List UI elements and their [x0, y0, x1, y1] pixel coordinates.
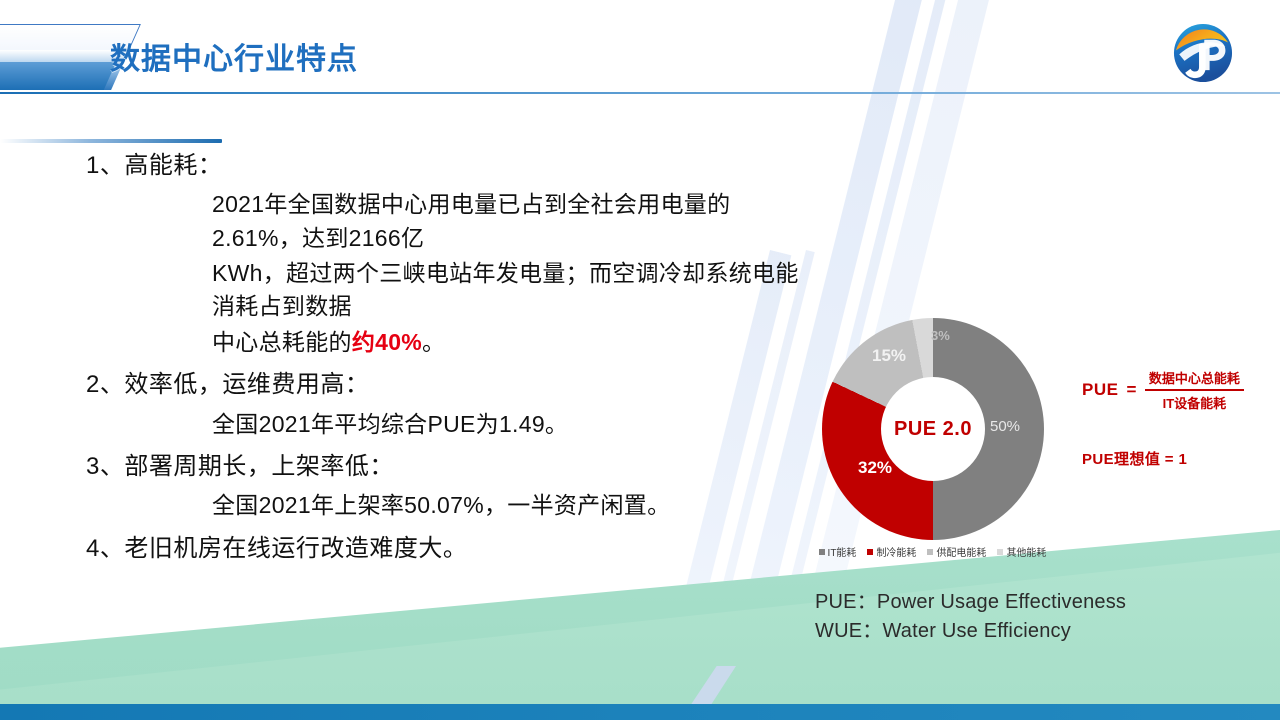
company-logo-icon: [1170, 20, 1236, 86]
formula-ideal-value: PUE理想值 = 1: [1082, 448, 1244, 469]
header-divider: [0, 92, 1280, 94]
legend-swatch-icon: [867, 549, 873, 555]
formula-lhs: PUE: [1082, 380, 1118, 400]
caption-pue: PUE：Power Usage Effectiveness: [815, 588, 1126, 617]
acronym-captions: PUE：Power Usage Effectiveness WUE：Water …: [815, 588, 1126, 646]
formula-fraction: 数据中心总能耗 IT设备能耗: [1145, 368, 1244, 412]
bullet-heading-4: 4、老旧机房在线运行改造难度大。: [0, 533, 800, 565]
header-parallelogram-fill-dark: [0, 62, 116, 90]
bullet-line-1-1: 2021年全国数据中心用电量已占到全社会用电量的2.61%，达到2166亿: [0, 188, 800, 255]
legend-label: 供配电能耗: [936, 544, 986, 559]
slice-label-power: 15%: [872, 346, 906, 366]
bullet-line-3-1: 全国2021年上架率50.07%，一半资产闲置。: [0, 489, 800, 522]
bottom-notch-shape: [690, 666, 736, 706]
pue-donut-chart: PUE 2.0 50% 32% 15% 3% IT能耗制冷能耗供配电能耗其他能耗: [800, 318, 1065, 568]
legend-label: 制冷能耗: [876, 544, 916, 559]
highlight-suffix: 。: [422, 329, 445, 355]
formula-equals: =: [1126, 380, 1136, 400]
content-body: 1、高能耗： 2021年全国数据中心用电量已占到全社会用电量的2.61%，达到2…: [0, 150, 800, 571]
caption-wue: WUE：Water Use Efficiency: [815, 617, 1126, 646]
bullet-line-1-3: 中心总耗能的约40%。: [0, 326, 800, 359]
legend-item: 供配电能耗: [927, 544, 986, 559]
legend-swatch-icon: [997, 549, 1003, 555]
slide-root: 数据中心行业特点 1、高能耗： 2021年全国数据中心用电量已占到全社会用电量的…: [0, 0, 1280, 720]
bullet-line-1-2: KWh，超过两个三峡电站年发电量；而空调冷却系统电能消耗占到数据: [0, 257, 800, 324]
legend-swatch-icon: [819, 549, 825, 555]
legend-item: 其他能耗: [997, 544, 1046, 559]
highlight-40-percent: 约40%: [352, 329, 422, 355]
bullet-line-1-3-text: 中心总耗能的: [212, 329, 352, 355]
bullet-heading-2: 2、效率低，运维费用高：: [0, 369, 800, 401]
bullet-heading-1: 1、高能耗：: [0, 150, 800, 182]
slice-label-other: 3%: [931, 328, 950, 343]
donut-center-label: PUE 2.0: [894, 418, 972, 441]
donut-center: PUE 2.0: [881, 377, 985, 481]
formula-row: PUE = 数据中心总能耗 IT设备能耗: [1082, 368, 1244, 412]
slice-label-cooling: 32%: [858, 458, 892, 478]
slice-label-it: 50%: [990, 418, 1020, 435]
bullet-line-2-1: 全国2021年平均综合PUE为1.49。: [0, 408, 800, 441]
accent-underline: [0, 139, 222, 143]
formula-numerator: 数据中心总能耗: [1145, 368, 1244, 389]
pue-formula: PUE = 数据中心总能耗 IT设备能耗 PUE理想值 = 1: [1082, 368, 1244, 469]
legend-item: 制冷能耗: [867, 544, 916, 559]
chart-legend: IT能耗制冷能耗供配电能耗其他能耗: [800, 544, 1065, 559]
legend-label: 其他能耗: [1006, 544, 1046, 559]
legend-item: IT能耗: [819, 544, 857, 559]
bottom-blue-bar: [0, 704, 1280, 720]
formula-denominator: IT设备能耗: [1159, 391, 1231, 412]
bullet-heading-3: 3、部署周期长，上架率低：: [0, 451, 800, 483]
page-title: 数据中心行业特点: [110, 34, 358, 78]
legend-swatch-icon: [927, 549, 933, 555]
legend-label: IT能耗: [828, 544, 857, 559]
